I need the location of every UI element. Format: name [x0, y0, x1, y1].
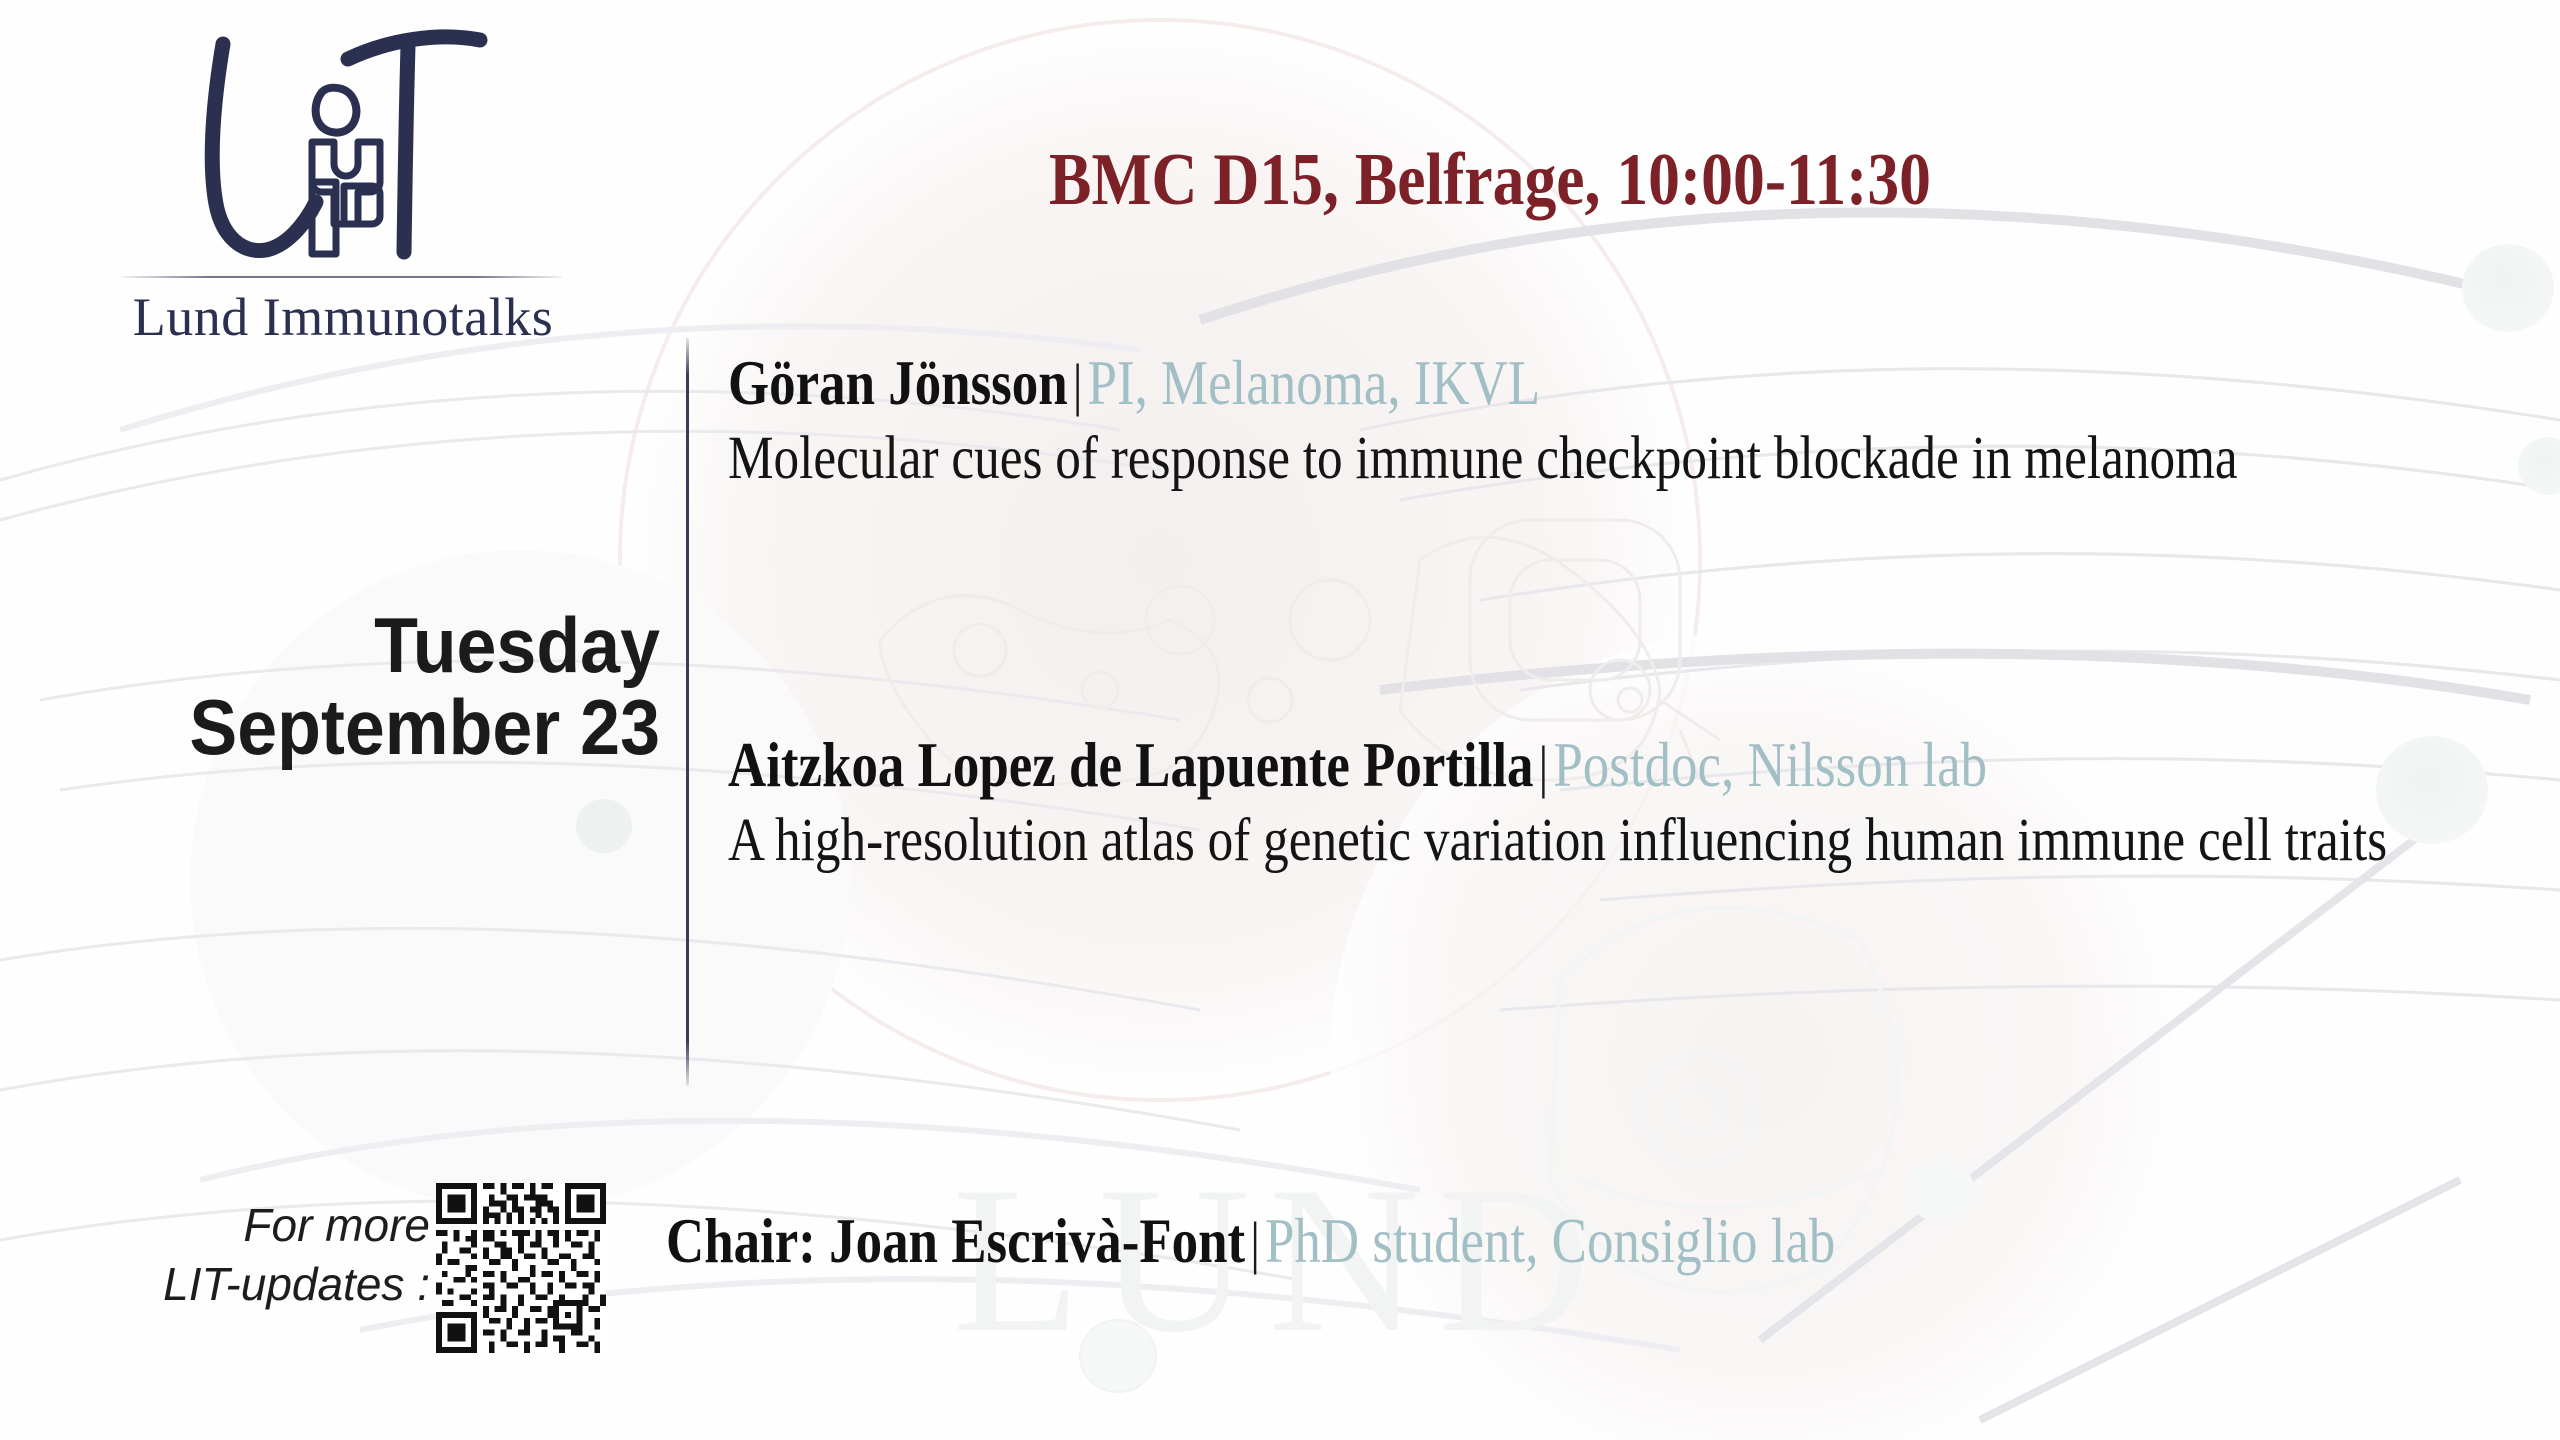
speaker-name: Göran Jönsson	[728, 348, 1068, 418]
lit-logo-icon	[108, 14, 578, 284]
speaker-name: Aitzkoa Lopez de Lapuente Portilla	[728, 730, 1534, 800]
event-date: Tuesday September 23	[53, 605, 660, 769]
event-day-month: September 23	[53, 687, 660, 769]
vertical-divider	[686, 338, 689, 1086]
talk-title: A high-resolution atlas of genetic varia…	[728, 805, 2522, 876]
seminar-poster: LUND	[0, 0, 2560, 1440]
logo-divider-rule	[122, 276, 562, 278]
chair-name: Joan Escrivà-Font	[829, 1206, 1245, 1276]
event-weekday: Tuesday	[53, 605, 660, 687]
chair-label: Chair:	[666, 1206, 816, 1276]
chair-line: Chair: Joan Escrivà-Font|PhD student, Co…	[666, 1207, 2245, 1276]
speaker-separator: |	[1534, 734, 1554, 799]
speaker-separator: |	[1068, 352, 1088, 417]
speaker-entry: Aitzkoa Lopez de Lapuente Portilla|Postd…	[728, 730, 2538, 876]
updates-note-line-2: LIT-updates :	[40, 1255, 430, 1314]
lund-immunotalks-logo: Lund Immunotalks	[108, 14, 578, 344]
speaker-entry: Göran Jönsson|PI, Melanoma, IKVL Molecul…	[728, 348, 2538, 494]
speaker-affiliation: Postdoc, Nilsson lab	[1553, 730, 1987, 800]
speaker-heading: Aitzkoa Lopez de Lapuente Portilla|Postd…	[728, 730, 2522, 801]
talk-title: Molecular cues of response to immune che…	[728, 423, 2522, 494]
qr-code-icon[interactable]	[436, 1181, 606, 1355]
updates-note-line-1: For more	[40, 1196, 430, 1255]
chair-affiliation: PhD student, Consiglio lab	[1265, 1206, 1835, 1276]
updates-note: For more LIT-updates :	[40, 1196, 430, 1314]
page-title: BMC D15, Belfrage, 10:00-11:30	[759, 143, 2221, 217]
logo-wordmark: Lund Immunotalks	[108, 286, 578, 348]
speaker-affiliation: PI, Melanoma, IKVL	[1088, 348, 1541, 418]
speaker-heading: Göran Jönsson|PI, Melanoma, IKVL	[728, 348, 2522, 419]
chair-separator: |	[1245, 1210, 1265, 1275]
